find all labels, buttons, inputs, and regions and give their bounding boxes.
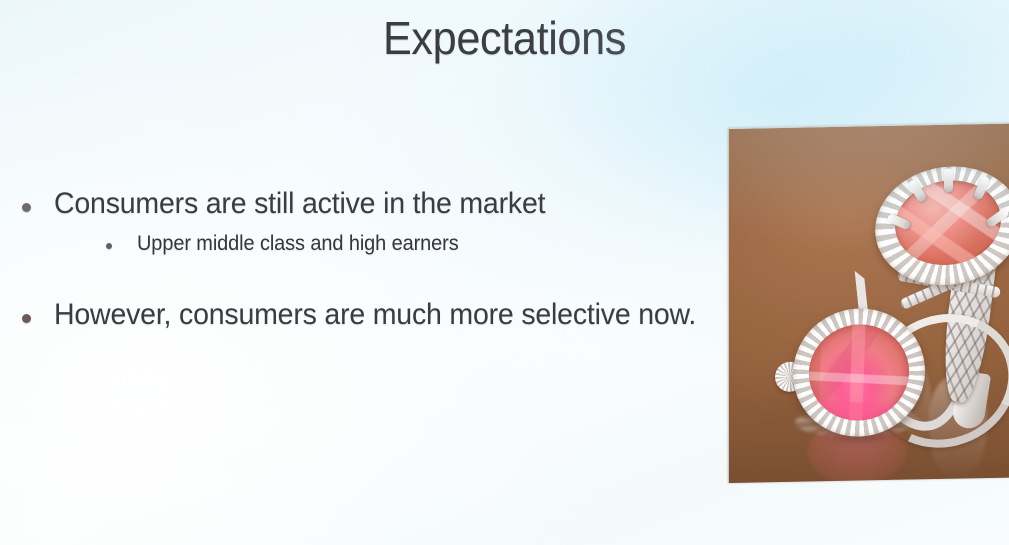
ring-prongs: [885, 165, 1009, 278]
sub-bullet-dot-icon: [106, 243, 112, 249]
bullet-item-2: Upper middle class and high earners: [106, 231, 742, 256]
ring-photo-content: [729, 124, 1009, 483]
page-title: Expectations: [30, 14, 978, 64]
bullet-text-1: Consumers are still active in the market: [54, 186, 545, 221]
lying-halo-ring: [775, 307, 943, 442]
bullet-item-1: Consumers are still active in the market: [22, 186, 742, 221]
prong-icon: [944, 168, 953, 192]
bullet-dot-icon: [22, 314, 31, 323]
ring-photo: [728, 123, 1009, 483]
presentation-slide: Expectations Consumers are still active …: [0, 0, 1009, 545]
slide-body-bullet-list: Consumers are still active in the market…: [22, 186, 742, 332]
bullet-spacer: [22, 257, 742, 297]
prong-icon: [907, 178, 928, 203]
bullet-text-3: However, consumers are much more selecti…: [54, 297, 696, 332]
bullet-text-2: Upper middle class and high earners: [137, 231, 459, 256]
prong-icon: [973, 175, 991, 201]
bullet-dot-icon: [22, 203, 31, 212]
bullet-item-3: However, consumers are much more selecti…: [22, 297, 742, 332]
